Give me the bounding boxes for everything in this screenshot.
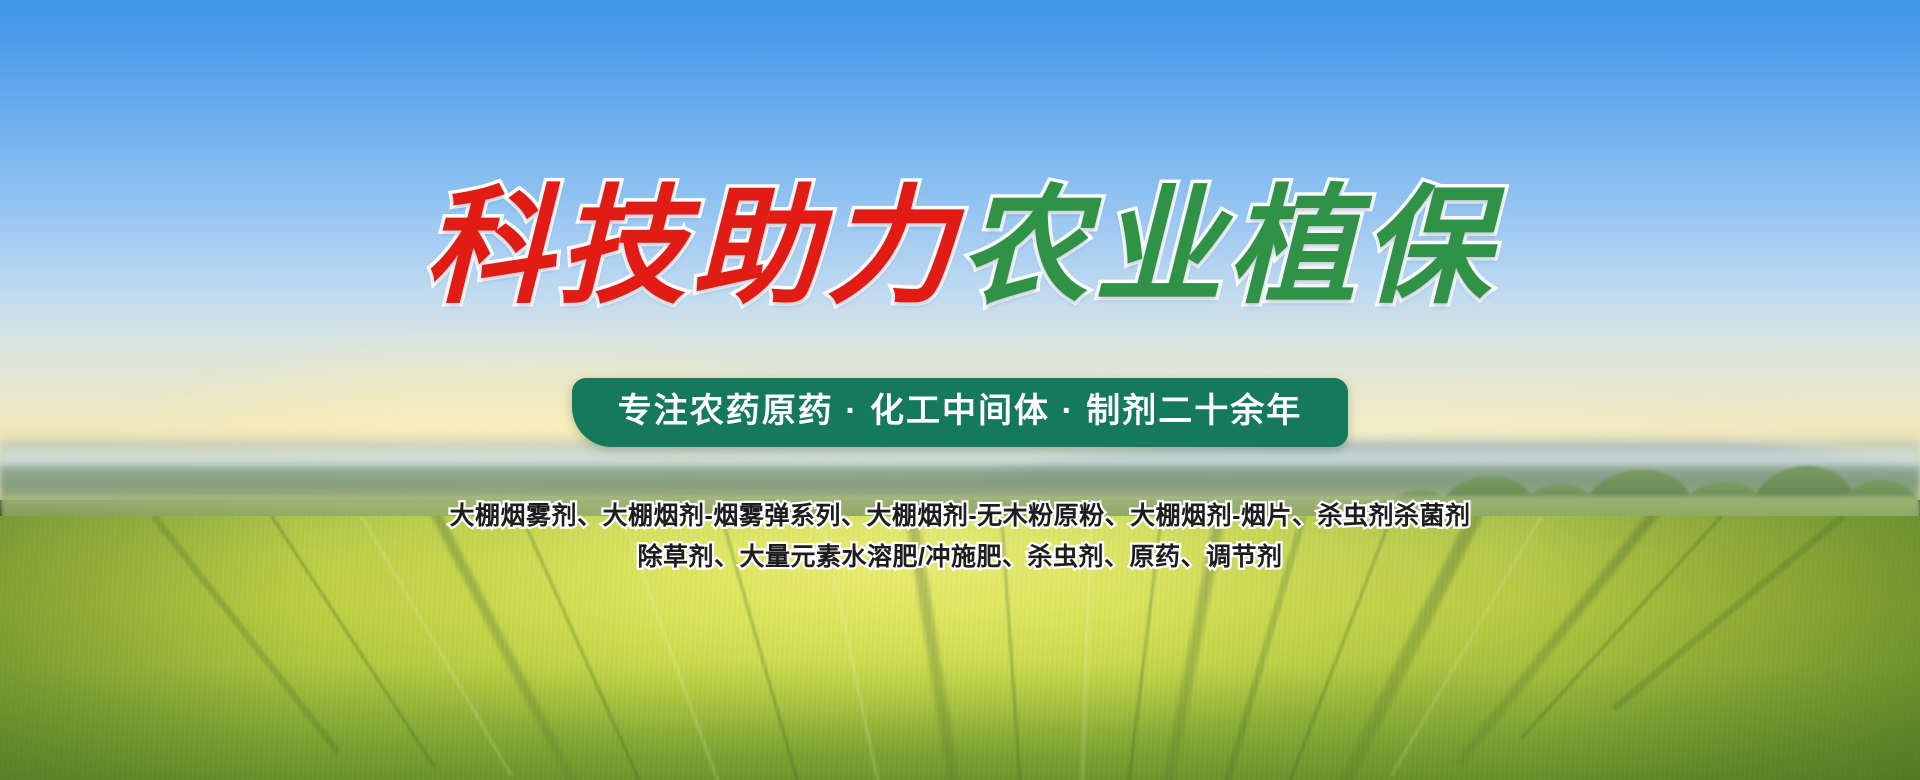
tagline-container: 专注农药原药 · 化工中间体 · 制剂二十余年 bbox=[0, 378, 1920, 447]
headline-green-text: 农业植保 bbox=[960, 178, 1496, 316]
banner-headline: 科技助力农业植保 bbox=[0, 178, 1920, 316]
description-line-2: 除草剂、大量元素水溶肥/冲施肥、杀虫剂、原药、调节剂 bbox=[0, 537, 1920, 578]
hero-banner: 科技助力农业植保 专注农药原药 · 化工中间体 · 制剂二十余年 大棚烟雾剂、大… bbox=[0, 0, 1920, 780]
product-description: 大棚烟雾剂、大棚烟剂-烟雾弹系列、大棚烟剂-无木粉原粉、大棚烟剂-烟片、杀虫剂杀… bbox=[0, 496, 1920, 577]
headline-red-text: 科技助力 bbox=[424, 178, 960, 316]
tagline-pill: 专注农药原药 · 化工中间体 · 制剂二十余年 bbox=[572, 378, 1348, 447]
description-line-1: 大棚烟雾剂、大棚烟剂-烟雾弹系列、大棚烟剂-无木粉原粉、大棚烟剂-烟片、杀虫剂杀… bbox=[0, 496, 1920, 537]
